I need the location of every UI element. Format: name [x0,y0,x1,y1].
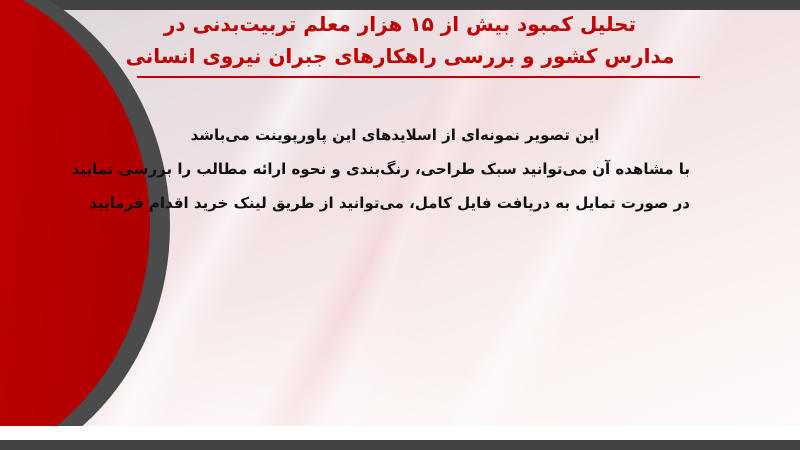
panel-sheen-overlay [120,10,800,440]
slide-body-text: این تصویر نمونه‌ای از اسلایدهای این پاور… [100,118,690,220]
slide-title-line-1: تحلیل کمبود بیش از ۱۵ هزار معلم تربیت‌بد… [100,8,700,40]
slide-bottom-white-strip [0,426,800,440]
title-underline-rule [137,76,700,78]
slide-title-line-2: مدارس کشور و بررسی راهکارهای جبران نیروی… [100,40,700,72]
body-text-line-2: با مشاهده آن می‌توانید سبک طراحی، رنگ‌بن… [100,152,690,186]
body-text-line-1: این تصویر نمونه‌ای از اسلایدهای این پاور… [100,118,690,152]
slide-title: تحلیل کمبود بیش از ۱۵ هزار معلم تربیت‌بد… [100,8,700,72]
slide-bottom-border [0,440,800,450]
body-text-line-3: در صورت تمایل به دریافت فایل کامل، می‌تو… [100,186,690,220]
presentation-slide: تحلیل کمبود بیش از ۱۵ هزار معلم تربیت‌بد… [0,0,800,450]
